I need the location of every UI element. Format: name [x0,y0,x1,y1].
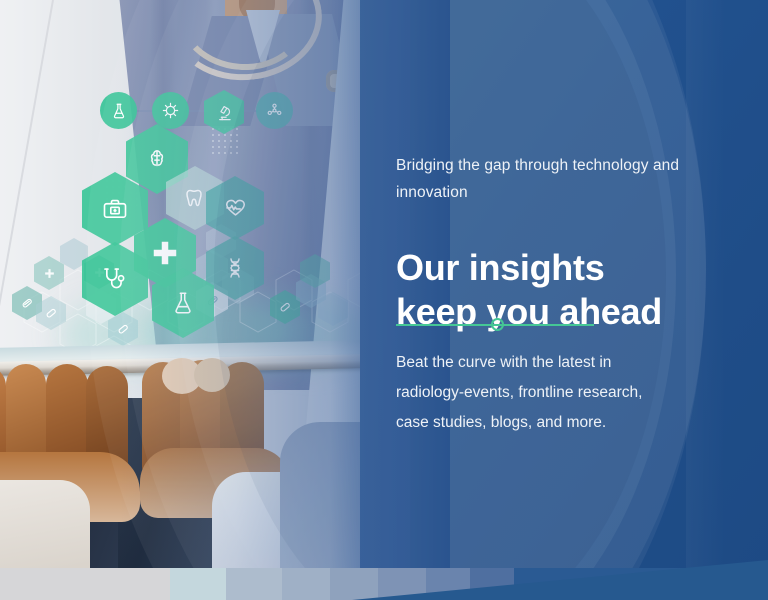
hero-kicker: Bridging the gap through technology and … [396,152,726,206]
strip-swatch [330,568,378,600]
hands-holding-tablet [0,362,400,552]
sleeve-shoulder [280,422,400,572]
body-line-1: Beat the curve with the latest in [396,348,726,378]
body-line-3: case studies, blogs, and more. [396,408,726,438]
sleeve-left [0,480,90,570]
hero-text-content: Bridging the gap through technology and … [396,0,768,600]
thumb [194,358,230,392]
strip-swatch [226,568,282,600]
accent-divider [396,318,594,332]
strip-swatch [170,568,226,600]
body-line-2: radiology-events, frontline research, [396,378,726,408]
insights-hero-banner: Bridging the gap through technology and … [0,0,768,600]
node-molecule-icon [256,92,293,129]
strip-swatch [0,568,170,600]
hero-photo [0,0,400,580]
hero-body-text: Beat the curve with the latest in radiol… [396,348,726,438]
strip-swatch [282,568,330,600]
node-flask-icon [100,92,137,129]
headline-line-1: Our insights [396,246,736,290]
node-virus-icon [152,92,189,129]
divider-knob-icon [491,318,504,331]
